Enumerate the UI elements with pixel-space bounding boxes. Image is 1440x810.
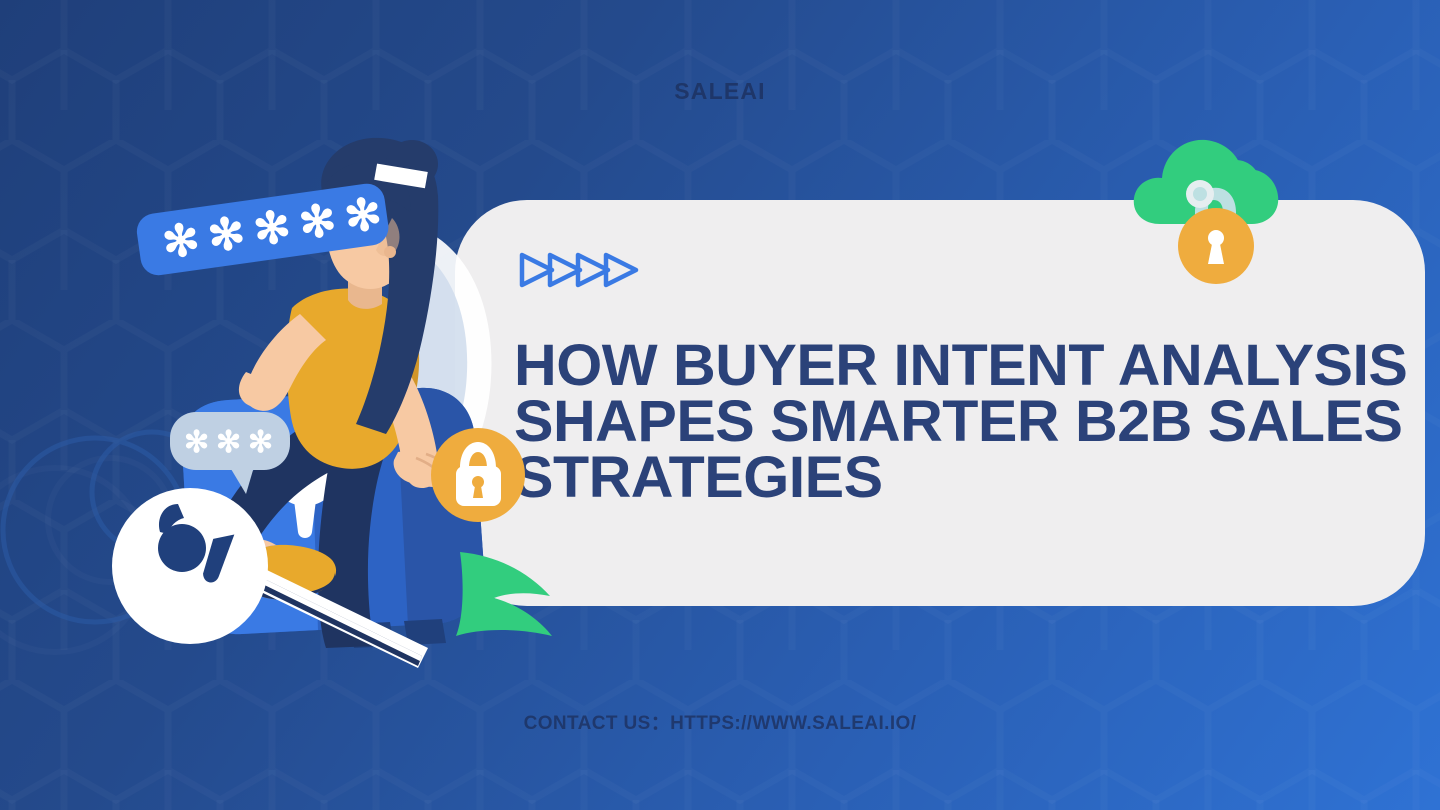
title-line-2: SHAPES SMARTER B2B SALES: [514, 394, 1437, 450]
svg-text:✻: ✻: [342, 189, 385, 243]
svg-text:✻: ✻: [296, 195, 339, 249]
poster-canvas: SALEAI HOW BUYER INTENT ANALYSIS SHAPES …: [0, 0, 1440, 810]
title-line-3: STRATEGIES: [514, 450, 1437, 506]
svg-text:✻: ✻: [216, 426, 241, 459]
footer-contact: CONTACT US：HTTPS://WWW.SALEAI.IO/: [0, 708, 1440, 735]
svg-text:✻: ✻: [159, 215, 202, 269]
svg-text:✻: ✻: [250, 202, 293, 256]
page-title: HOW BUYER INTENT ANALYSIS SHAPES SMARTER…: [514, 338, 1437, 506]
svg-text:✻: ✻: [248, 426, 273, 459]
woman-with-password-illustration: ✻ ✻ ✻ ✻ ✻ ✻ ✻ ✻: [60, 100, 620, 660]
cloud-unlocked-padlock-icon: [1120, 112, 1300, 292]
title-line-1: HOW BUYER INTENT ANALYSIS: [514, 338, 1437, 394]
svg-text:✻: ✻: [184, 426, 209, 459]
svg-text:✻: ✻: [205, 208, 248, 262]
